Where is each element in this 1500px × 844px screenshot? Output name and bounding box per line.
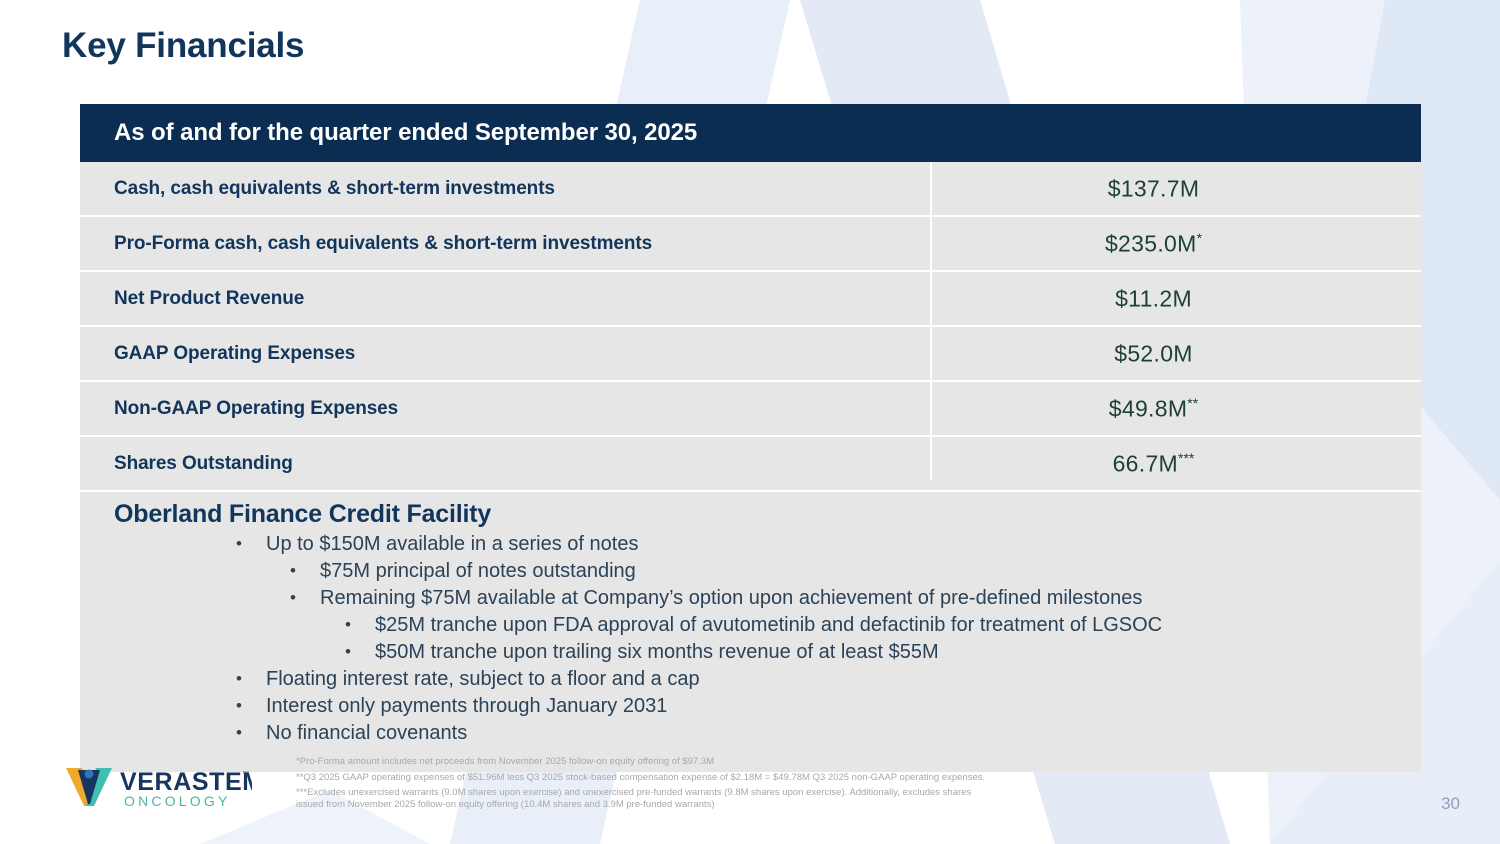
bullet-text: $75M principal of notes outstanding xyxy=(306,558,636,584)
table-row: Net Product Revenue $11.2M xyxy=(80,272,1421,327)
row-value-marker: * xyxy=(1197,230,1202,246)
table-row: Non-GAAP Operating Expenses $49.8M** xyxy=(80,382,1421,437)
bullet-dot-icon: • xyxy=(280,558,306,584)
footnotes: *Pro-Forma amount includes net proceeds … xyxy=(296,756,996,814)
bullet-item: • Remaining $75M available at Company’s … xyxy=(80,585,1421,611)
bullet-dot-icon: • xyxy=(226,666,252,692)
table-header-label: As of and for the quarter ended Septembe… xyxy=(80,119,697,147)
logo-trademark: ™ xyxy=(242,771,249,778)
bullet-dot-icon: • xyxy=(335,639,361,665)
bullet-item: • $75M principal of notes outstanding xyxy=(80,558,1421,584)
row-value-text: $49.8M xyxy=(1109,395,1188,421)
footnote-1: *Pro-Forma amount includes net proceeds … xyxy=(296,756,996,768)
row-value: $235.0M* xyxy=(930,230,1421,258)
bullet-text: Remaining $75M available at Company’s op… xyxy=(306,585,1142,611)
logo-dot-icon xyxy=(85,770,94,779)
table-row: GAAP Operating Expenses $52.0M xyxy=(80,327,1421,382)
bullet-dot-icon: • xyxy=(335,612,361,638)
table-row: Shares Outstanding 66.7M*** xyxy=(80,437,1421,492)
bullet-item: • Floating interest rate, subject to a f… xyxy=(80,666,1421,692)
credit-facility-title: Oberland Finance Credit Facility xyxy=(80,500,1421,529)
verastem-oncology-logo: VERASTEM ™ ONCOLOGY xyxy=(62,760,252,812)
logo-wordmark: VERASTEM xyxy=(120,768,252,796)
bullet-item: • $25M tranche upon FDA approval of avut… xyxy=(80,612,1421,638)
table-row: Cash, cash equivalents & short-term inve… xyxy=(80,162,1421,217)
bullet-text: $25M tranche upon FDA approval of avutom… xyxy=(361,612,1162,638)
bullet-item: • No financial covenants xyxy=(80,720,1421,746)
row-label: Non-GAAP Operating Expenses xyxy=(80,398,930,420)
bullet-item: • Interest only payments through January… xyxy=(80,693,1421,719)
bullet-text: Floating interest rate, subject to a flo… xyxy=(252,666,700,692)
row-value-text: $235.0M xyxy=(1105,230,1197,256)
row-value: $52.0M xyxy=(930,340,1421,368)
row-label: Net Product Revenue xyxy=(80,288,930,310)
row-value: $11.2M xyxy=(930,285,1421,313)
footnote-2: **Q3 2025 GAAP operating expenses of $51… xyxy=(296,772,996,784)
row-value-text: $137.7M xyxy=(1108,175,1200,201)
row-label: Shares Outstanding xyxy=(80,453,930,475)
footnote-3: ***Excludes unexercised warrants (9.0M s… xyxy=(296,787,996,810)
page-number: 30 xyxy=(1441,794,1460,814)
bullet-item: • Up to $150M available in a series of n… xyxy=(80,531,1421,557)
row-value-marker: *** xyxy=(1178,450,1194,466)
bullet-text: Interest only payments through January 2… xyxy=(252,693,667,719)
page-title: Key Financials xyxy=(62,26,304,66)
bullet-dot-icon: • xyxy=(280,585,306,611)
bullet-text: Up to $150M available in a series of not… xyxy=(252,531,638,557)
table-body: Cash, cash equivalents & short-term inve… xyxy=(80,162,1421,772)
row-value: $137.7M xyxy=(930,175,1421,203)
row-value: $49.8M** xyxy=(930,395,1421,423)
row-value-text: 66.7M xyxy=(1113,450,1178,476)
bullet-dot-icon: • xyxy=(226,720,252,746)
row-value-text: $52.0M xyxy=(1114,340,1193,366)
logo-subtitle: ONCOLOGY xyxy=(124,793,231,809)
table-row: Pro-Forma cash, cash equivalents & short… xyxy=(80,217,1421,272)
row-value-marker: ** xyxy=(1187,395,1198,411)
row-label: Cash, cash equivalents & short-term inve… xyxy=(80,178,930,200)
bullet-text: $50M tranche upon trailing six months re… xyxy=(361,639,939,665)
bullet-item: • $50M tranche upon trailing six months … xyxy=(80,639,1421,665)
row-label: GAAP Operating Expenses xyxy=(80,343,930,365)
key-financials-table: As of and for the quarter ended Septembe… xyxy=(80,104,1421,772)
bullet-text: No financial covenants xyxy=(252,720,467,746)
bullet-dot-icon: • xyxy=(226,693,252,719)
row-label: Pro-Forma cash, cash equivalents & short… xyxy=(80,233,930,255)
slide-canvas: Key Financials As of and for the quarter… xyxy=(0,0,1500,844)
row-value-text: $11.2M xyxy=(1115,285,1192,311)
table-header-bar: As of and for the quarter ended Septembe… xyxy=(80,104,1421,162)
credit-facility-section: Oberland Finance Credit Facility • Up to… xyxy=(80,492,1421,772)
bullet-dot-icon: • xyxy=(226,531,252,557)
row-value: 66.7M*** xyxy=(930,450,1421,478)
